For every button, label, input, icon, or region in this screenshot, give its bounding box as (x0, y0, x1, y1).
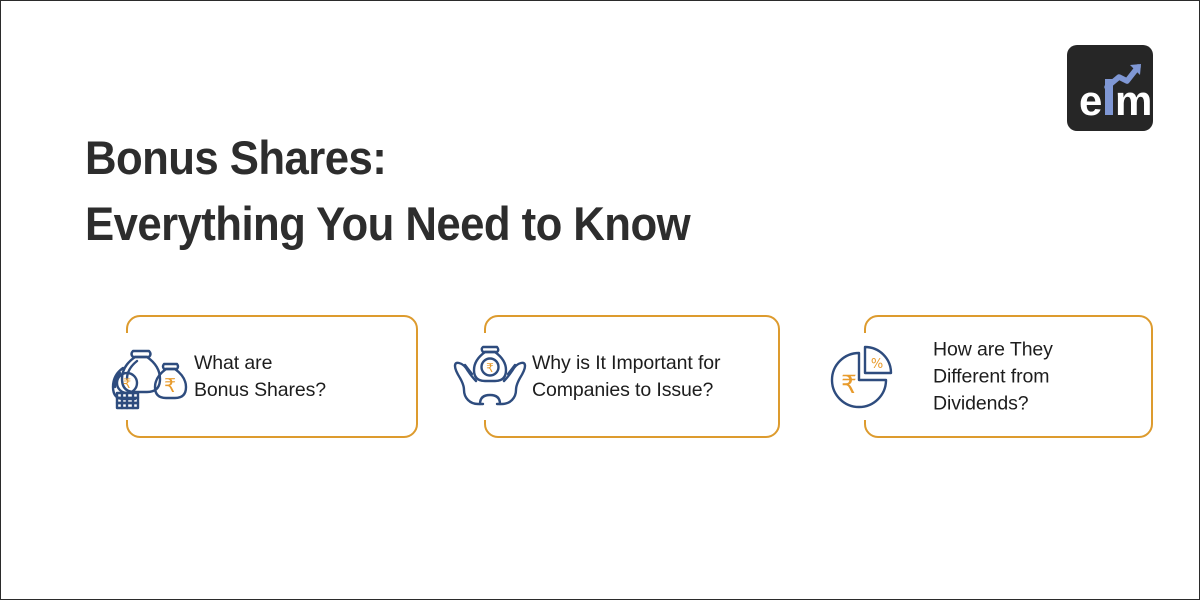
svg-text:₹: ₹ (164, 375, 176, 397)
title-line-2: Everything You Need to Know (85, 191, 922, 257)
infographic-canvas: e m Bonus Shares: Everything You Need to… (0, 0, 1200, 600)
card-label: What are Bonus Shares? (194, 350, 326, 404)
card-label: How are They Different from Dividends? (933, 336, 1053, 417)
card-label: Why is It Important for Companies to Iss… (532, 350, 720, 404)
svg-text:₹: ₹ (486, 361, 494, 375)
svg-text:₹: ₹ (841, 370, 857, 399)
card-why-is-it-important[interactable]: ₹ Why is It Important for Companies to I… (448, 315, 780, 438)
svg-text:%: % (871, 357, 883, 372)
card-how-are-they-different[interactable]: ₹ % How are They Different from Dividend… (819, 315, 1153, 438)
money-bags-icon: ₹ ₹ (106, 335, 190, 419)
svg-text:e: e (1079, 77, 1102, 124)
card-what-are-bonus-shares[interactable]: ₹ ₹ What are Bonus Shares? (106, 315, 418, 438)
elm-logo-mark: e m (1067, 45, 1153, 131)
hands-holding-money-bag-icon: ₹ (448, 335, 532, 419)
card-row: ₹ ₹ What are Bonus Shares? (1, 301, 1200, 461)
title-line-1: Bonus Shares: (85, 125, 922, 191)
elm-logo[interactable]: e m (1067, 45, 1153, 131)
pie-chart-percent-rupee-icon: ₹ % (819, 335, 903, 419)
svg-text:m: m (1115, 77, 1152, 124)
page-title: Bonus Shares: Everything You Need to Kno… (85, 125, 985, 257)
svg-text:₹: ₹ (123, 377, 131, 392)
